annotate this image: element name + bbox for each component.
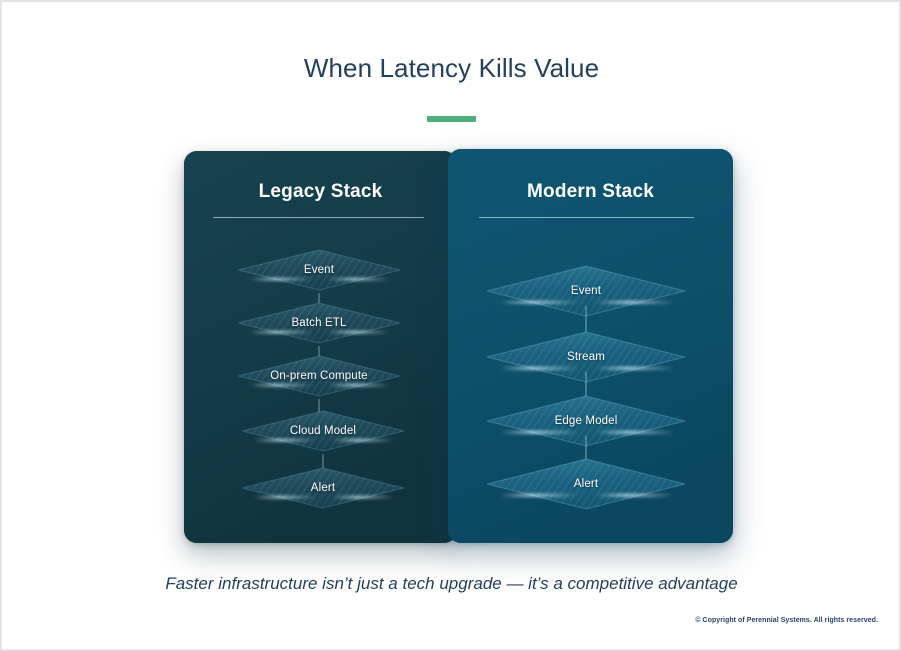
- comparison-board: Legacy Stack Modern Stack: [1, 1, 901, 651]
- copyright-text: © Copyright of Perennial Systems. All ri…: [695, 617, 878, 624]
- node-legacy-2[interactable]: Batch ETL: [236, 301, 402, 345]
- modern-stack-heading: Modern Stack: [448, 181, 733, 203]
- modern-heading-divider: [479, 217, 694, 218]
- node-legacy-3[interactable]: On-prem Compute: [236, 354, 402, 398]
- node-legacy-1-label: Event: [236, 248, 402, 292]
- node-legacy-5-label: Alert: [240, 466, 406, 510]
- node-legacy-4-label: Cloud Model: [240, 409, 406, 453]
- node-legacy-4[interactable]: Cloud Model: [240, 409, 406, 453]
- node-legacy-3-label: On-prem Compute: [236, 354, 402, 398]
- node-modern-4[interactable]: Alert: [484, 456, 688, 512]
- node-legacy-2-label: Batch ETL: [236, 301, 402, 345]
- caption-text: Faster infrastructure isn’t just a tech …: [1, 574, 901, 594]
- legacy-stack-heading: Legacy Stack: [184, 181, 457, 203]
- node-legacy-1[interactable]: Event: [236, 248, 402, 292]
- node-legacy-5[interactable]: Alert: [240, 466, 406, 510]
- node-modern-4-label: Alert: [484, 456, 688, 512]
- legacy-heading-divider: [213, 217, 424, 218]
- slide-canvas: When Latency Kills Value: [0, 0, 901, 651]
